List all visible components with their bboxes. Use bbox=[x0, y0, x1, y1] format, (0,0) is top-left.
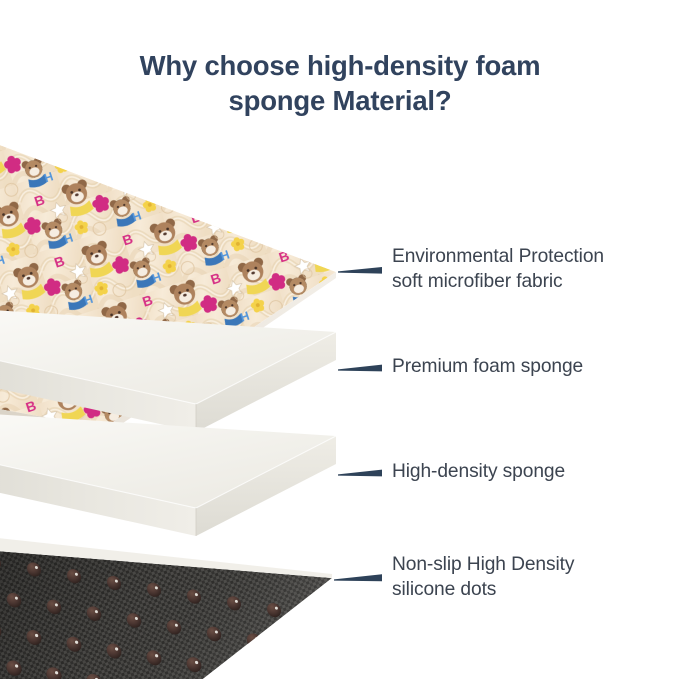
leader-lines bbox=[334, 267, 382, 581]
infographic-canvas: Why choose high-density foam sponge Mate… bbox=[0, 0, 679, 679]
leader-line-3 bbox=[338, 470, 382, 477]
leader-line-4 bbox=[334, 574, 382, 581]
leader-line-2 bbox=[338, 365, 382, 372]
callout-label-microfiber-fabric: Environmental Protection soft microfiber… bbox=[392, 245, 604, 295]
layer-stack-illustration: B H bbox=[0, 0, 679, 679]
callout-label-premium-foam: Premium foam sponge bbox=[392, 355, 583, 380]
leader-line-1 bbox=[338, 267, 382, 274]
callout-label-high-density-sponge: High-density sponge bbox=[392, 460, 565, 485]
callout-label-silicone-dots: Non-slip High Density silicone dots bbox=[392, 553, 574, 603]
layer-high-density-sponge bbox=[0, 412, 336, 536]
layer-silicone-dots bbox=[0, 534, 332, 679]
